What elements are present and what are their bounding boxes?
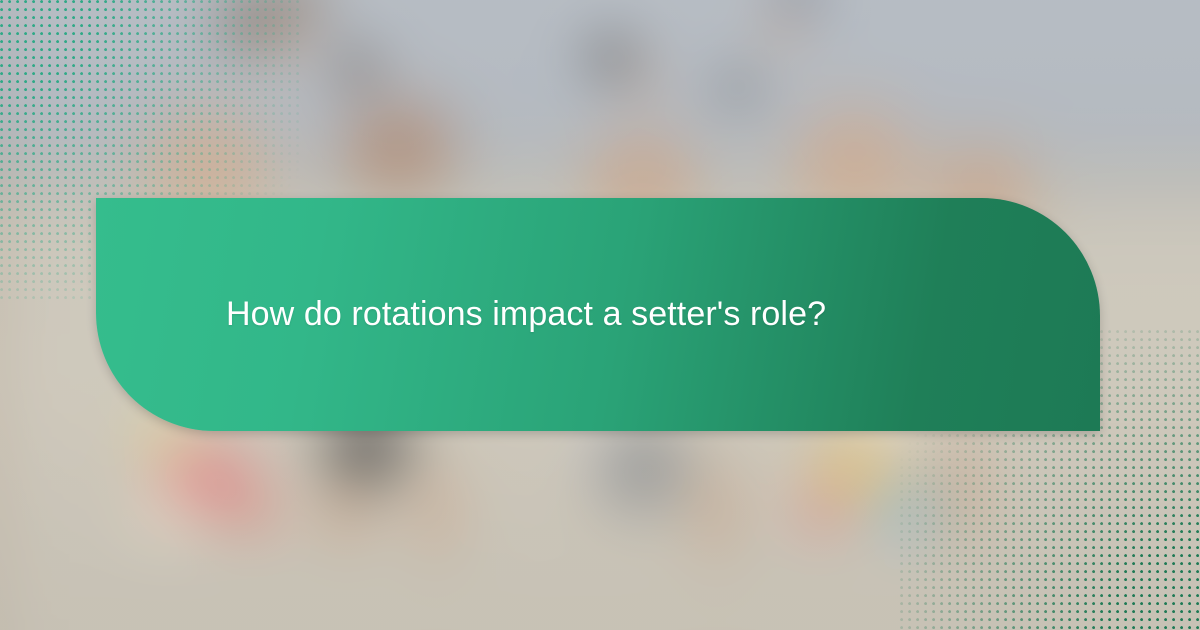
- title-banner: How do rotations impact a setter's role?: [96, 198, 1100, 431]
- page-title: How do rotations impact a setter's role?: [96, 293, 886, 336]
- social-card: How do rotations impact a setter's role?: [0, 0, 1200, 630]
